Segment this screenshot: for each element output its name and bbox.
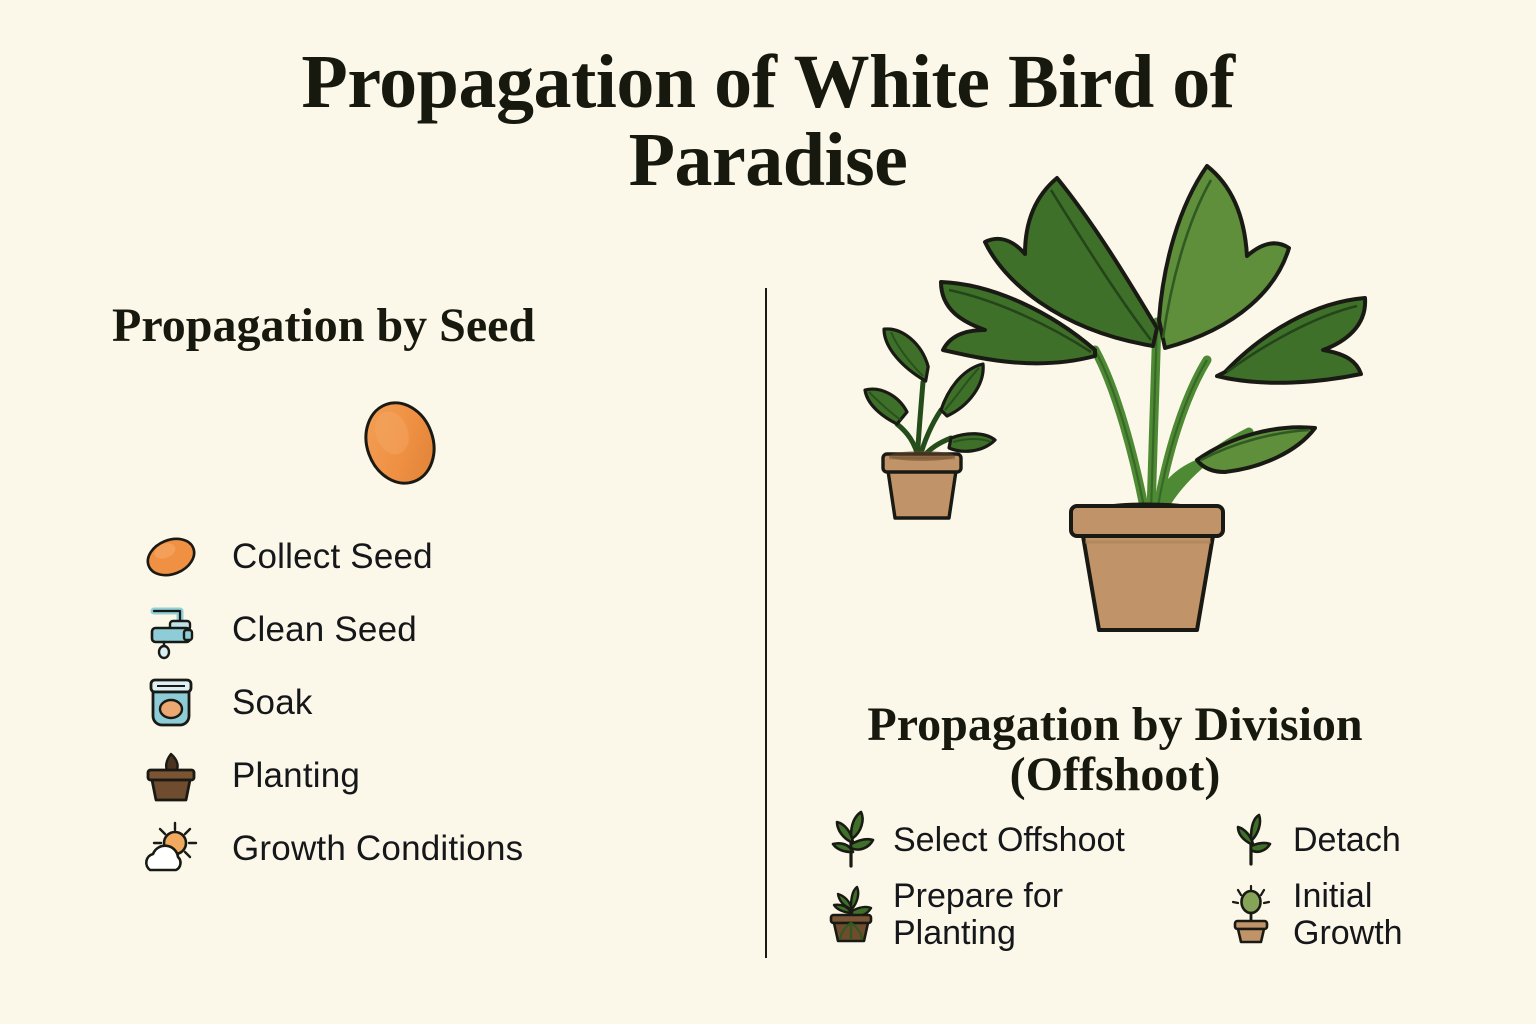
faucet-water-icon <box>140 599 202 661</box>
seed-ellipse-icon <box>350 393 450 493</box>
sun-cloud-icon <box>140 818 202 880</box>
list-item[interactable]: Prepare for Planting <box>825 878 1225 951</box>
list-item-label: Select Offshoot <box>893 822 1125 859</box>
list-item[interactable]: Planting <box>140 739 523 812</box>
left-column-propagation-by-seed: Propagation by Seed <box>0 0 765 1024</box>
small-sprout-icon <box>1225 810 1277 870</box>
section-heading-seed: Propagation by Seed <box>112 298 535 353</box>
list-item[interactable]: Growth Conditions <box>140 812 523 885</box>
list-item[interactable]: Select Offshoot <box>825 810 1225 870</box>
list-item-label-line2: Growth <box>1293 915 1403 952</box>
list-item-label: Collect Seed <box>232 537 433 577</box>
seed-steps-list: Collect Seed <box>140 520 523 885</box>
list-item-label-line1: Initial <box>1293 877 1372 915</box>
potted-sprout-roots-icon <box>825 885 877 945</box>
seed-icon <box>140 526 202 588</box>
list-item-label: Growth Conditions <box>232 829 523 869</box>
division-steps-grid: Select Offshoot Detach <box>825 810 1525 951</box>
section-heading-division-line2: (Offshoot) <box>765 750 1465 800</box>
list-item-label-line1: Prepare for <box>893 877 1063 915</box>
potted-bud-glow-icon <box>1225 885 1277 945</box>
section-heading-division: Propagation by Division (Offshoot) <box>765 700 1465 801</box>
list-item-label-line2: Planting <box>893 915 1063 952</box>
soaking-jar-icon <box>140 672 202 734</box>
sprout-icon <box>825 810 877 870</box>
plant-pot-seed-icon <box>140 745 202 807</box>
list-item-label: Detach <box>1293 822 1401 859</box>
list-item-label: Initial Growth <box>1293 878 1403 951</box>
list-item-label: Clean Seed <box>232 610 417 650</box>
list-item-label: Soak <box>232 683 313 723</box>
potted-bird-of-paradise-illustration <box>845 160 1385 720</box>
right-column-propagation-by-division: Propagation by Division (Offshoot) <box>765 0 1536 1024</box>
infographic-canvas: Propagation of White Bird of Paradise Pr… <box>0 0 1536 1024</box>
list-item[interactable]: Detach <box>1225 810 1525 870</box>
list-item[interactable]: Clean Seed <box>140 593 523 666</box>
list-item[interactable]: Soak <box>140 666 523 739</box>
list-item[interactable]: Initial Growth <box>1225 878 1525 951</box>
section-heading-division-line1: Propagation by Division <box>867 698 1362 751</box>
main-plant <box>941 166 1365 630</box>
list-item-label: Prepare for Planting <box>893 878 1063 951</box>
list-item-label: Planting <box>232 756 360 796</box>
list-item[interactable]: Collect Seed <box>140 520 523 593</box>
